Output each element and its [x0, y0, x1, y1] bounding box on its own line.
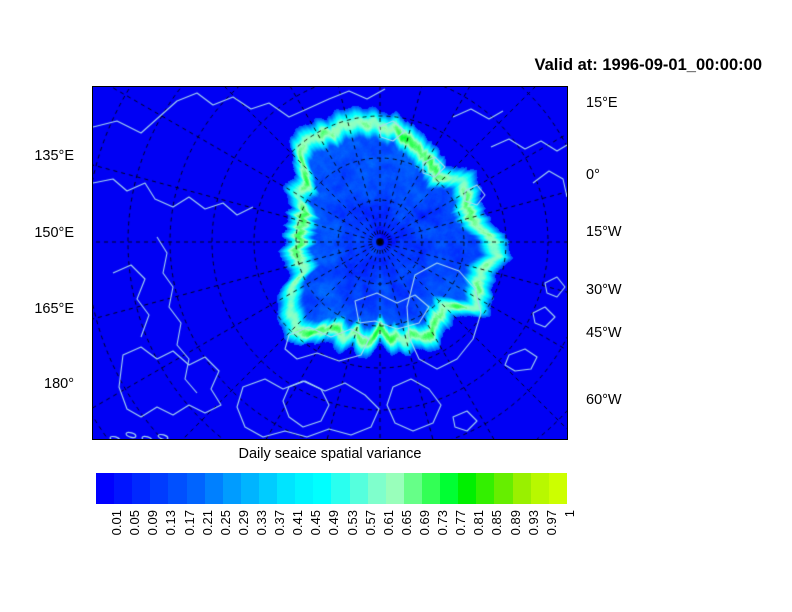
colorbar-tick-label: 0.61: [382, 510, 395, 535]
colorbar-tick-label: 0.97: [545, 510, 558, 535]
colorbar-tick-label: 0.85: [490, 510, 503, 535]
axis-tick-left: [92, 234, 93, 235]
axis-label-left: 165°E: [0, 302, 74, 317]
colorbar-tick-label: 0.21: [201, 510, 214, 535]
colorbar-band: [531, 473, 549, 504]
colorbar-band: [404, 473, 422, 504]
axis-label-right: 60°W: [586, 393, 622, 408]
colorbar-tick-label: 0.49: [327, 510, 340, 535]
colorbar-caption: Daily seaice spatial variance: [92, 446, 568, 462]
colorbar-band: [422, 473, 440, 504]
axis-label-right: 15°E: [586, 96, 618, 111]
colorbar-band: [295, 473, 313, 504]
colorbar-tick-label: 0.33: [255, 510, 268, 535]
colorbar: 0.010.050.090.130.170.210.250.290.330.37…: [96, 473, 567, 504]
colorbar-band: [168, 473, 186, 504]
axis-label-left: 135°E: [0, 149, 74, 164]
axis-label-right: 0°: [586, 168, 600, 183]
colorbar-band: [241, 473, 259, 504]
colorbar-band: [313, 473, 331, 504]
colorbar-tick-label: 0.93: [527, 510, 540, 535]
colorbar-tick-label: 1: [563, 510, 576, 517]
colorbar-tick-label: 0.01: [110, 510, 123, 535]
colorbar-tick-label: 0.17: [183, 510, 196, 535]
colorbar-band: [259, 473, 277, 504]
axis-tick-left: [92, 157, 93, 158]
colorbar-band: [223, 473, 241, 504]
colorbar-tick-label: 0.37: [273, 510, 286, 535]
colorbar-tick-label: 0.45: [309, 510, 322, 535]
figure-root: Valid at: 1996-09-01_00:00:00 135°E150°E…: [0, 0, 792, 612]
colorbar-gradient: [96, 473, 567, 504]
axis-label-left: 180°: [0, 377, 74, 392]
axis-tick-left: [92, 310, 93, 311]
colorbar-tick-label: 0.73: [436, 510, 449, 535]
colorbar-band: [368, 473, 386, 504]
colorbar-band: [458, 473, 476, 504]
axis-label-right: 30°W: [586, 283, 622, 298]
colorbar-band: [96, 473, 114, 504]
colorbar-band: [132, 473, 150, 504]
colorbar-band: [277, 473, 295, 504]
colorbar-tick-label: 0.69: [418, 510, 431, 535]
colorbar-tick-label: 0.53: [346, 510, 359, 535]
colorbar-tick-label: 0.41: [291, 510, 304, 535]
page-title: Valid at: 1996-09-01_00:00:00: [0, 56, 762, 75]
colorbar-band: [386, 473, 404, 504]
colorbar-tick-label: 0.89: [509, 510, 522, 535]
colorbar-band: [476, 473, 494, 504]
colorbar-band: [331, 473, 349, 504]
colorbar-band: [150, 473, 168, 504]
colorbar-tick-label: 0.29: [237, 510, 250, 535]
colorbar-band: [350, 473, 368, 504]
colorbar-tick-label: 0.09: [146, 510, 159, 535]
axis-label-right: 15°W: [586, 225, 622, 240]
map-plot-area: [92, 86, 568, 440]
colorbar-band: [205, 473, 223, 504]
colorbar-tick-label: 0.81: [472, 510, 485, 535]
colorbar-band: [187, 473, 205, 504]
colorbar-tick-label: 0.13: [164, 510, 177, 535]
axis-label-right: 45°W: [586, 326, 622, 341]
seaice-variance-map: [93, 87, 567, 439]
colorbar-tick-label: 0.05: [128, 510, 141, 535]
colorbar-band: [114, 473, 132, 504]
colorbar-band: [494, 473, 512, 504]
colorbar-band: [549, 473, 567, 504]
colorbar-band: [513, 473, 531, 504]
axis-label-left: 150°E: [0, 226, 74, 241]
colorbar-tick-label: 0.25: [219, 510, 232, 535]
colorbar-tick-label: 0.65: [400, 510, 413, 535]
axis-tick-left: [92, 385, 93, 386]
colorbar-band: [440, 473, 458, 504]
colorbar-tick-label: 0.57: [364, 510, 377, 535]
colorbar-tick-label: 0.77: [454, 510, 467, 535]
